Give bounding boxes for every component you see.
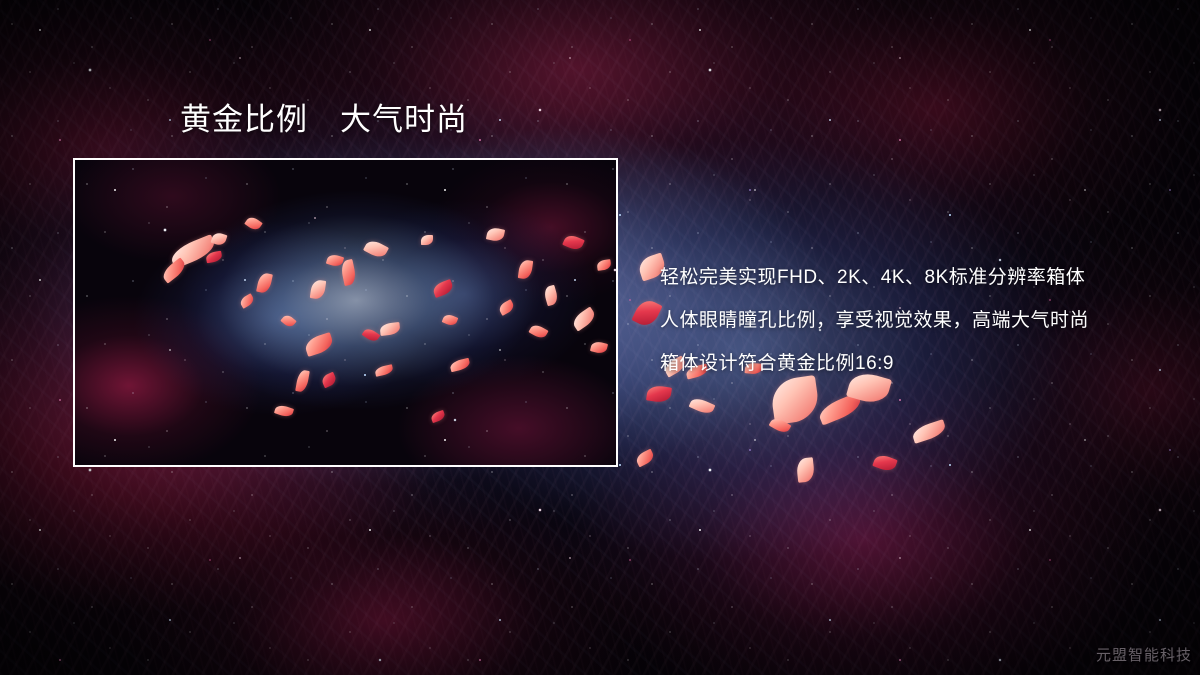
photo-nebula-image — [75, 160, 616, 465]
framed-galaxy-photo — [73, 158, 618, 467]
body-line-1: 轻松完美实现FHD、2K、4K、8K标准分辨率箱体 — [660, 256, 1160, 299]
watermark: 元盟智能科技 — [1096, 644, 1192, 665]
body-line-2: 人体眼睛瞳孔比例，享受视觉效果，高端大气时尚 — [660, 299, 1160, 342]
body-text-block: 轻松完美实现FHD、2K、4K、8K标准分辨率箱体 人体眼睛瞳孔比例，享受视觉效… — [660, 256, 1160, 385]
body-line-3: 箱体设计符合黄金比例16:9 — [660, 342, 1160, 385]
page-title: 黄金比例 大气时尚 — [180, 100, 468, 140]
presentation-slide: 黄金比例 大气时尚 轻松完美实现FHD、2K、4K、8K标准分辨率箱体 人体眼睛… — [0, 0, 1200, 675]
